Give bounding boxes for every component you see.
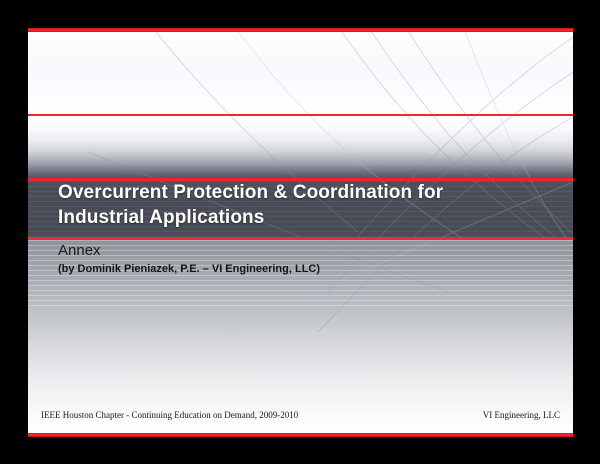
slide-footer: IEEE Houston Chapter - Continuing Educat… <box>28 410 573 430</box>
footer-left-text: IEEE Houston Chapter - Continuing Educat… <box>41 410 298 420</box>
slide-title: Overcurrent Protection & Coordination fo… <box>58 180 528 230</box>
slide-byline: (by Dominik Pieniazek, P.E. – VI Enginee… <box>58 262 320 277</box>
slide-subtitle: Annex <box>58 241 101 260</box>
footer-right-text: VI Engineering, LLC <box>483 410 560 420</box>
presentation-slide: Overcurrent Protection & Coordination fo… <box>28 28 573 437</box>
slide-background-upper <box>28 32 573 114</box>
slide-title-line-1: Overcurrent Protection & Coordination fo… <box>58 180 528 205</box>
bottom-accent-rule <box>28 433 573 437</box>
upper-divider-rule <box>28 114 573 116</box>
top-accent-rule <box>28 28 573 32</box>
slide-background-fade-dark <box>28 116 573 178</box>
title-band-bottom-rule <box>28 237 573 240</box>
slide-title-line-2: Industrial Applications <box>58 205 528 230</box>
